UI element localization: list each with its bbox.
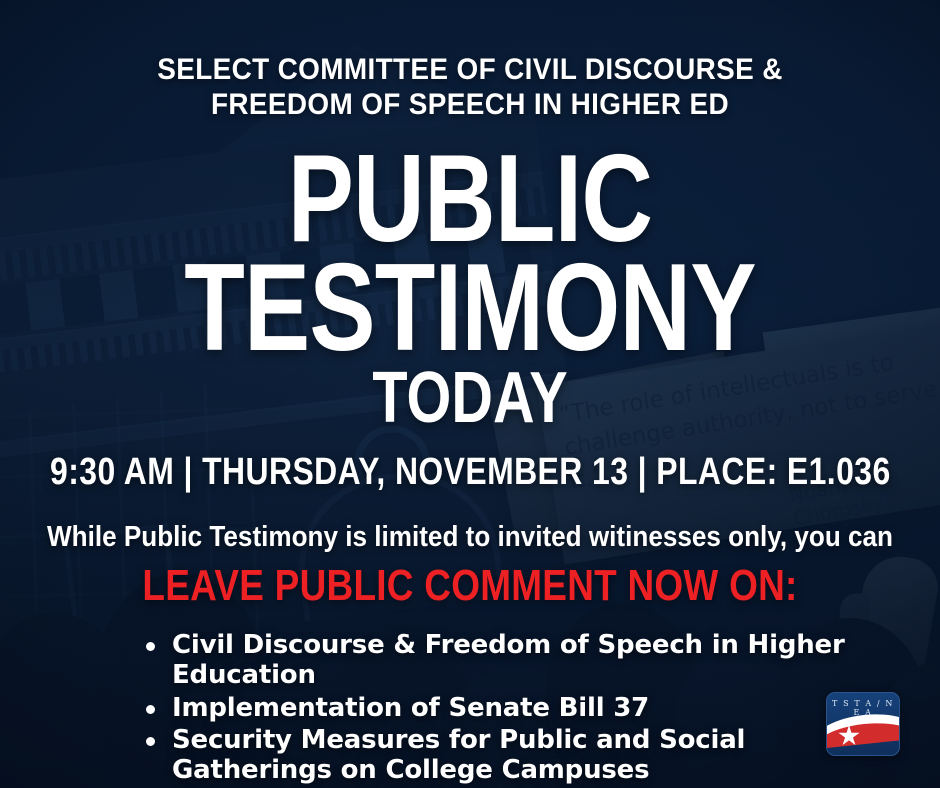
list-item: Civil Discourse & Freedom of Speech in H… xyxy=(144,630,904,690)
testimony-note: While Public Testimony is limited to inv… xyxy=(47,523,893,552)
committee-name: SELECT COMMITTEE OF CIVIL DISCOURSE & FR… xyxy=(89,52,852,123)
comment-topics-list: Civil Discourse & Freedom of Speech in H… xyxy=(144,630,904,787)
page-title: PUBLIC TESTIMONY xyxy=(94,145,846,363)
list-item: Security Measures for Public and Social … xyxy=(144,725,904,785)
poster-content: SELECT COMMITTEE OF CIVIL DISCOURSE & FR… xyxy=(0,0,940,788)
list-item: Implementation of Senate Bill 37 xyxy=(144,693,904,723)
event-announcement-poster: “The role of intellectuals is to challen… xyxy=(0,0,940,788)
tsta-nea-logo: T S T A / N E A xyxy=(826,692,900,756)
event-details: 9:30 AM | THURSDAY, NOVEMBER 13 | PLACE:… xyxy=(50,453,891,491)
page-subtitle: TODAY xyxy=(372,365,567,431)
leave-comment-callout: LEAVE PUBLIC COMMENT NOW ON: xyxy=(142,564,797,608)
